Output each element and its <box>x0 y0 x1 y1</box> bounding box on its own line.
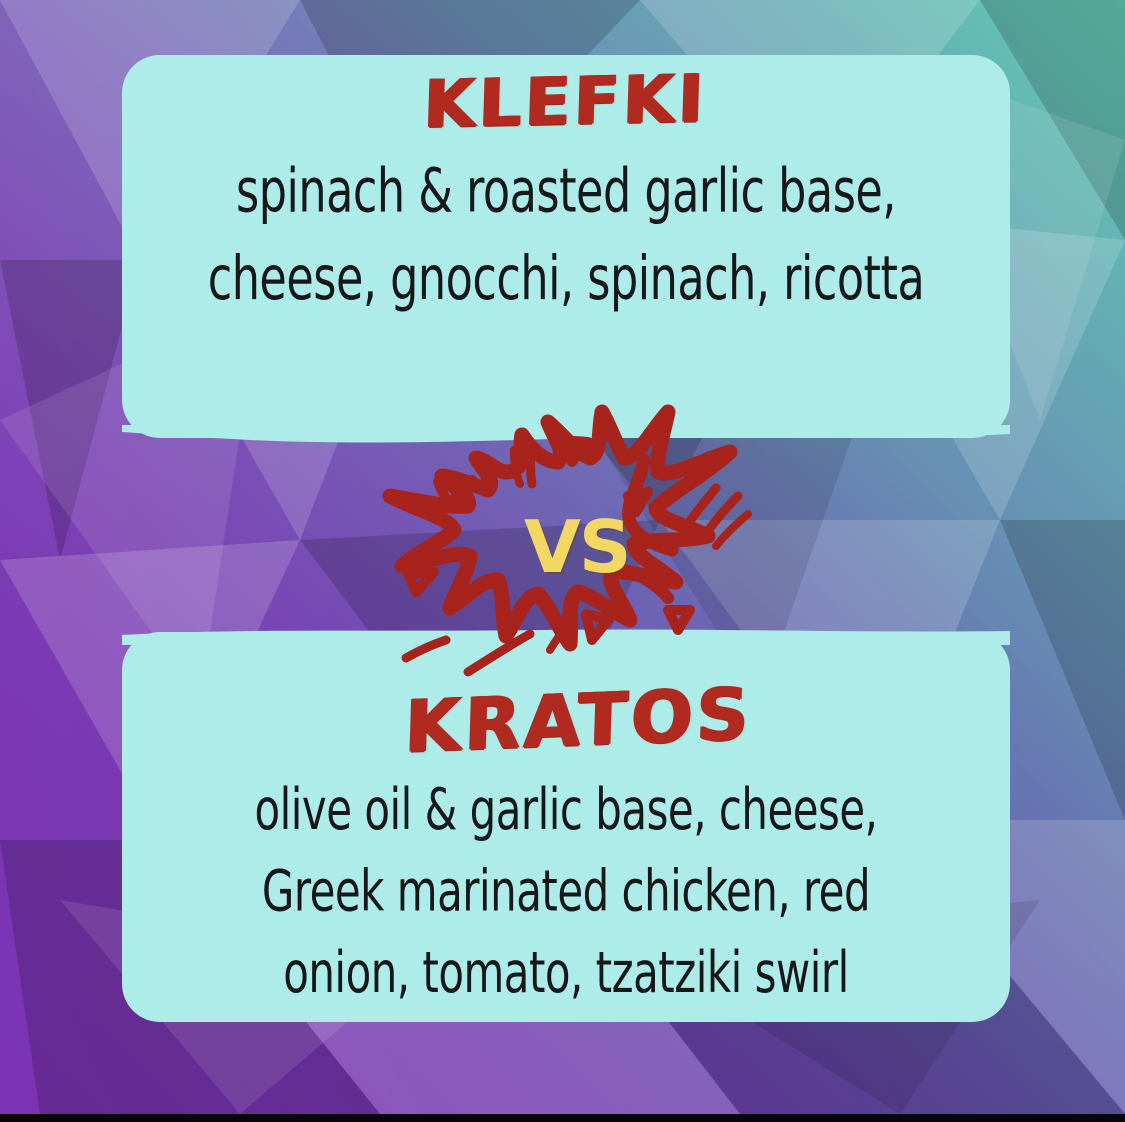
card-title-klefki: KLEFKI <box>423 66 708 138</box>
description-line: spinach & roasted garlic base, <box>157 149 976 237</box>
comparison-card-kratos: KRATOS olive oil & garlic base, cheese, … <box>122 632 1010 1022</box>
bottom-letterbox-strip <box>0 1114 1125 1122</box>
versus-label-container: VS <box>372 400 772 690</box>
description-line: cheese, gnocchi, spinach, ricotta <box>157 237 976 325</box>
description-line: Greek marinated chicken, red <box>157 852 976 934</box>
description-line: olive oil & garlic base, cheese, <box>157 770 976 852</box>
versus-label: VS <box>524 511 630 583</box>
description-line: onion, tomato, tzatziki swirl <box>157 933 976 1015</box>
card-title-kratos: KRATOS <box>404 677 754 762</box>
versus-graphic: KLEFKI spinach & roasted garlic base, ch… <box>0 0 1125 1122</box>
comparison-card-klefki: KLEFKI spinach & roasted garlic base, ch… <box>122 55 1010 438</box>
card-description-kratos: olive oil & garlic base, cheese, Greek m… <box>135 770 996 1015</box>
card-description-klefki: spinach & roasted garlic base, cheese, g… <box>135 149 996 325</box>
